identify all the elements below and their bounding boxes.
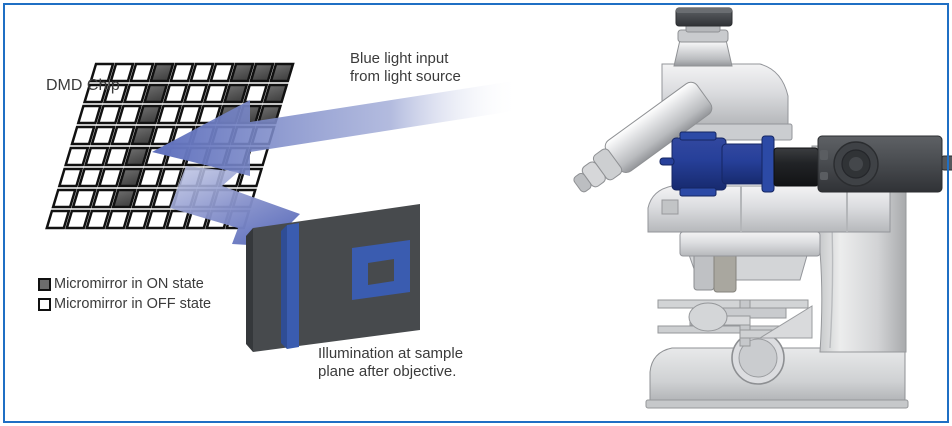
mirror-off: [159, 169, 181, 186]
blue-light-input-label: Blue light input from light source: [350, 50, 461, 87]
dmd-row: [78, 106, 280, 123]
sample-plane-caption: Illumination at sample plane after objec…: [318, 345, 463, 382]
lower-body-divider-2: [846, 186, 848, 232]
illuminator-lens-inner: [849, 157, 863, 171]
mirror-off: [59, 169, 81, 186]
mirror-on: [145, 85, 167, 102]
microscope-illustration: [566, 8, 952, 408]
illumination-stripe: [287, 223, 299, 349]
blue-filter-module: [672, 138, 726, 190]
mirror-on: [138, 106, 160, 123]
top-camera-top: [676, 8, 732, 13]
dmd-chip-label: DMD Chip: [46, 76, 120, 96]
mirror-off: [78, 106, 100, 123]
mirror-on: [119, 169, 141, 186]
mirror-off: [147, 211, 169, 228]
base-foot: [646, 400, 908, 408]
mirror-off: [93, 190, 115, 207]
mirror-off: [72, 127, 94, 144]
mirror-off: [66, 148, 88, 165]
mirror-on: [132, 127, 154, 144]
mirror-off: [125, 85, 147, 102]
blue-filter-knob: [660, 158, 674, 165]
micromirror-legend: Micromirror in ON state Micromirror in O…: [38, 274, 211, 314]
mirror-off: [131, 64, 153, 81]
illuminator-port: [820, 150, 828, 160]
mirror-off: [73, 190, 95, 207]
legend-swatch-off-icon: [38, 298, 51, 311]
figure-canvas: DMD Chip Blue light input from light sou…: [0, 0, 952, 426]
mirror-off: [47, 211, 69, 228]
mirror-on: [113, 190, 135, 207]
camera-mount: [674, 40, 732, 66]
mirror-off: [178, 106, 200, 123]
mirror-on: [251, 64, 273, 81]
lower-body-divider: [740, 186, 742, 232]
mirror-off: [133, 190, 155, 207]
mirror-off: [205, 85, 227, 102]
mirror-off: [139, 169, 161, 186]
blue-filter-flange: [762, 136, 774, 192]
mirror-on: [231, 64, 253, 81]
mirror-off: [165, 85, 187, 102]
specimen-stage: [658, 300, 808, 308]
illuminator-port-2: [820, 172, 828, 180]
sample-plane-panel: [246, 204, 420, 352]
mirror-off: [118, 106, 140, 123]
mirror-off: [127, 211, 149, 228]
mirror-off: [99, 169, 121, 186]
mirror-off: [86, 148, 108, 165]
dmd-schematic: [0, 0, 952, 426]
dmd-row: [91, 64, 293, 81]
mirror-off: [167, 211, 189, 228]
mirror-off: [53, 190, 75, 207]
mirror-on: [271, 64, 293, 81]
legend-swatch-on-icon: [38, 278, 51, 291]
mirror-off: [79, 169, 101, 186]
mirror-off: [191, 64, 213, 81]
sample-plane-edge: [246, 228, 253, 352]
mirror-off: [106, 148, 128, 165]
mirror-off: [158, 106, 180, 123]
blue-filter-collar-top: [680, 132, 716, 140]
mirror-on: [265, 85, 287, 102]
lower-body-vent: [662, 200, 678, 214]
legend-item-off: Micromirror in OFF state: [38, 294, 211, 314]
mirror-off: [152, 127, 174, 144]
condenser-dome: [689, 303, 727, 331]
mirror-off: [67, 211, 89, 228]
mirror-on: [151, 64, 173, 81]
mirror-off: [211, 64, 233, 81]
mirror-off: [98, 106, 120, 123]
legend-item-on: Micromirror in ON state: [38, 274, 211, 294]
mirror-off: [112, 127, 134, 144]
mirror-off: [245, 85, 267, 102]
legend-label-off: Micromirror in OFF state: [54, 296, 211, 312]
mirror-on: [225, 85, 247, 102]
coupling-tube: [774, 148, 818, 186]
blue-filter-collar-bottom: [680, 188, 716, 196]
illuminator-connector: [942, 156, 952, 170]
mirror-off: [185, 85, 207, 102]
illumination-stripe-edge: [281, 225, 287, 349]
legend-label-on: Micromirror in ON state: [54, 276, 204, 292]
mirror-off: [171, 64, 193, 81]
mirror-off: [107, 211, 129, 228]
mirror-on: [126, 148, 148, 165]
turret-housing: [680, 232, 820, 256]
blue-filter-arm: [722, 144, 766, 184]
mirror-off: [87, 211, 109, 228]
mirror-off: [92, 127, 114, 144]
